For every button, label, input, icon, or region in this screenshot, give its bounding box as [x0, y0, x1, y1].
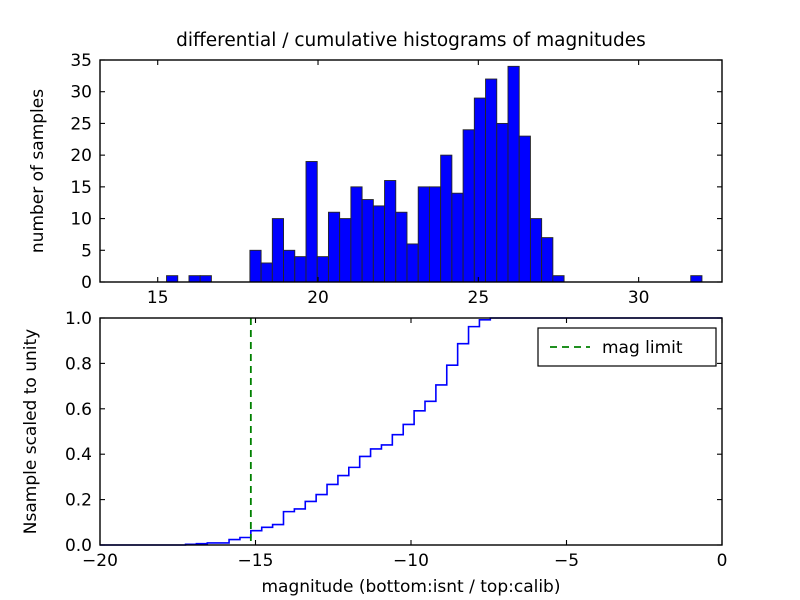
- histogram-bar: [396, 212, 407, 282]
- histogram-bar: [272, 219, 283, 282]
- histogram-bar: [295, 257, 306, 282]
- histogram-bar: [167, 276, 178, 282]
- histogram-bar: [284, 250, 295, 282]
- y-tick-label: 15: [70, 178, 92, 198]
- legend: mag limit: [538, 328, 716, 366]
- x-tick-label: −15: [238, 551, 274, 571]
- cumulative-y-axis-label: Nsample scaled to unity: [21, 329, 41, 534]
- y-tick-label: 30: [70, 83, 92, 103]
- histogram-bar: [429, 187, 440, 282]
- histogram-bar: [373, 206, 384, 282]
- histogram-bar: [519, 136, 530, 282]
- y-tick-label: 5: [81, 241, 92, 261]
- x-tick-label: −10: [393, 551, 429, 571]
- y-tick-label: 35: [70, 51, 92, 71]
- histogram-bar: [452, 193, 463, 282]
- histogram-bar: [385, 181, 396, 282]
- y-tick-label: 20: [70, 146, 92, 166]
- matplotlib-figure: 1520253005101520253035number of samplesd…: [0, 0, 800, 600]
- y-tick-label: 0.6: [65, 400, 92, 420]
- histogram-bar: [691, 276, 702, 282]
- histogram-bar: [542, 238, 553, 282]
- histogram-bar: [530, 219, 541, 282]
- x-tick-label: 20: [307, 288, 329, 308]
- y-tick-label: 0.8: [65, 354, 92, 374]
- histogram-bar: [553, 276, 564, 282]
- histogram-bar: [351, 187, 362, 282]
- y-tick-label: 1.0: [65, 309, 92, 329]
- y-tick-label: 0: [81, 273, 92, 293]
- figure-canvas: 1520253005101520253035number of samplesd…: [0, 0, 800, 600]
- histogram-bar: [441, 155, 452, 282]
- x-tick-label: 15: [147, 288, 169, 308]
- y-tick-label: 0.0: [65, 536, 92, 556]
- histogram-bar: [508, 66, 519, 282]
- histogram-bar: [486, 79, 497, 282]
- histogram-bar: [497, 123, 508, 282]
- x-tick-label: 25: [468, 288, 490, 308]
- legend-label-mag-limit: mag limit: [602, 338, 683, 358]
- histogram-bar: [474, 98, 485, 282]
- y-tick-label: 10: [70, 210, 92, 230]
- histogram-bar: [418, 187, 429, 282]
- x-tick-label: 30: [628, 288, 650, 308]
- histogram-bar: [200, 276, 211, 282]
- x-tick-label: −5: [554, 551, 579, 571]
- histogram-axes: 1520253005101520253035number of samples: [28, 51, 722, 308]
- histogram-bar: [362, 200, 373, 282]
- histogram-bar: [407, 244, 418, 282]
- histogram-bar: [328, 212, 339, 282]
- histogram-bars: [167, 66, 702, 282]
- y-tick-label: 0.2: [65, 491, 92, 511]
- cumulative-x-axis-label: magnitude (bottom:isnt / top:calib): [262, 577, 561, 597]
- histogram-y-axis-label: number of samples: [28, 89, 48, 253]
- histogram-bar: [340, 219, 351, 282]
- histogram-bar: [261, 263, 272, 282]
- x-tick-label: 0: [717, 551, 728, 571]
- y-tick-label: 25: [70, 114, 92, 134]
- histogram-bar: [317, 257, 328, 282]
- y-tick-label: 0.4: [65, 445, 92, 465]
- figure-title: differential / cumulative histograms of …: [176, 30, 646, 51]
- histogram-bar: [189, 276, 200, 282]
- histogram-bar: [250, 250, 261, 282]
- histogram-bar: [306, 161, 317, 282]
- histogram-bar: [463, 130, 474, 282]
